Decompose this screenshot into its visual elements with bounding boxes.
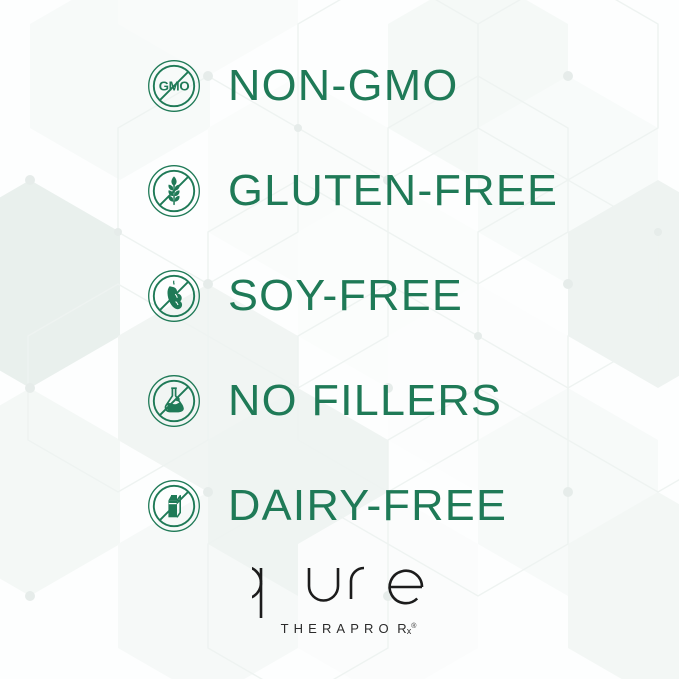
no-soy-icon (147, 269, 201, 323)
claim-row-no-fillers: NO FILLERS (147, 373, 497, 429)
brand-subtitle-text: THERAPRO (281, 621, 394, 636)
claim-row-gluten-free: GLUTEN-FREE (147, 163, 552, 219)
claim-row-soy-free: SOY-FREE (147, 268, 458, 324)
claim-row-non-gmo: GMO NON-GMO (147, 58, 454, 114)
brand-wordmark-pure (252, 558, 428, 620)
brand-rx: Rx® (394, 621, 417, 636)
claim-row-dairy-free: DAIRY-FREE (147, 478, 502, 534)
no-gmo-icon: GMO (147, 59, 201, 113)
claim-label-non-gmo: NON-GMO (228, 64, 458, 108)
brand-subtitle: THERAPRO Rx® (0, 621, 679, 636)
no-dairy-icon (147, 479, 201, 533)
no-gmo-icon-label: GMO (159, 79, 190, 94)
no-fillers-icon (147, 374, 201, 428)
no-gluten-icon (147, 164, 201, 218)
product-claims-graphic: GMO NON-GMO (0, 0, 679, 679)
brand-logo: THERAPRO Rx® (0, 558, 679, 636)
claim-label-no-fillers: NO FILLERS (228, 379, 502, 423)
claim-label-soy-free: SOY-FREE (228, 274, 463, 318)
claim-label-dairy-free: DAIRY-FREE (228, 484, 507, 528)
claim-label-gluten-free: GLUTEN-FREE (228, 169, 558, 213)
